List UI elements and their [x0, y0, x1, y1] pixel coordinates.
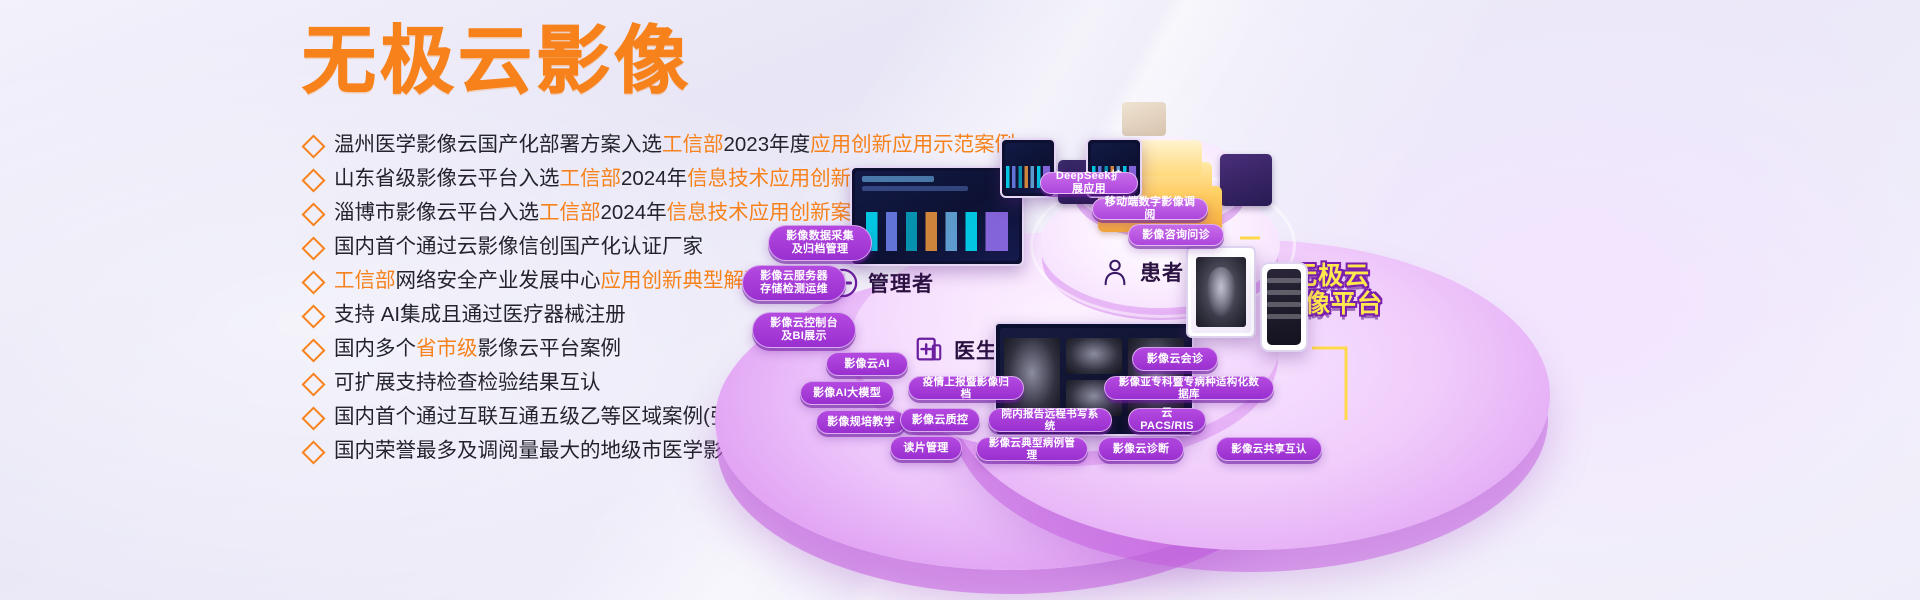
- text-segment: 工信部: [539, 201, 601, 224]
- text-segment: 支持 AI集成且通过医疗器械注册: [334, 303, 626, 326]
- text-segment: 山东省级影像云平台入选: [334, 167, 560, 190]
- diamond-bullet-icon: [301, 236, 325, 260]
- image-cell: [1066, 338, 1122, 374]
- text-segment: 省市级: [416, 337, 478, 360]
- text-segment: 影像云平台案例: [478, 337, 622, 360]
- medical-record-icon: [914, 335, 944, 365]
- platform-diagram: 无极云 影像平台 管理者 患者 医生: [700, 120, 1920, 600]
- pill-remote-report-writing[interactable]: 院内报告远程书写系统: [988, 408, 1112, 432]
- screen-subheader-bar: [862, 186, 967, 191]
- text-segment: 淄博市影像云平台入选: [334, 201, 539, 224]
- pill-image-consult-inquiry[interactable]: 影像咨询问诊: [1128, 224, 1224, 246]
- diamond-bullet-icon: [301, 202, 325, 226]
- server-chip-top: [1122, 102, 1166, 136]
- role-label: 医生: [954, 335, 998, 365]
- text-segment: 国内多个: [334, 337, 416, 360]
- diamond-bullet-icon: [301, 440, 325, 464]
- text-segment: 工信部: [334, 269, 396, 292]
- server-chip-right: [1220, 154, 1272, 206]
- xray-panel-screen: [1186, 246, 1256, 338]
- pill-epidemic-report-archive[interactable]: 疫情上报暨影像归档: [908, 376, 1024, 400]
- pill-image-cloud-qc[interactable]: 影像云质控: [900, 408, 980, 432]
- text-segment: 2024年: [601, 201, 667, 224]
- pill-image-training-teaching[interactable]: 影像规培教学: [816, 410, 906, 434]
- page-title: 无极云影像: [302, 24, 692, 98]
- diamond-bullet-icon: [301, 168, 325, 192]
- role-label: 患者: [1140, 257, 1184, 287]
- diamond-bullet-icon: [301, 406, 325, 430]
- text-segment: 国内首个通过云影像信创国产化认证厂家: [334, 235, 703, 258]
- diamond-bullet-icon: [301, 270, 325, 294]
- screen-header-bar: [862, 176, 933, 183]
- text-segment: 温州医学影像云国产化部署方案入选: [334, 133, 662, 156]
- diamond-bullet-icon: [301, 304, 325, 328]
- pill-image-cloud-diagnosis[interactable]: 影像云诊断: [1098, 437, 1184, 461]
- pill-typical-case-management[interactable]: 影像云典型病例管理: [976, 437, 1088, 461]
- mobile-phone-screen: [1260, 262, 1308, 352]
- pill-image-cloud-consultation[interactable]: 影像云会诊: [1132, 347, 1218, 371]
- pill-deepseek-extension[interactable]: DeepSeek扩展应用: [1040, 172, 1138, 194]
- text-segment: 工信部: [560, 167, 622, 190]
- diamond-bullet-icon: [301, 372, 325, 396]
- pill-mobile-image-access[interactable]: 移动端数字影像调阅: [1092, 198, 1208, 220]
- diamond-bullet-icon: [301, 338, 325, 362]
- screen-chart-bars: [866, 212, 1009, 250]
- pill-image-cloud-ai[interactable]: 影像云AI: [826, 352, 908, 376]
- role-label: 管理者: [868, 268, 934, 298]
- pill-subspecialty-database[interactable]: 影像亚专科暨专病种适构化数据库: [1104, 376, 1274, 400]
- phone-line: [1267, 302, 1300, 307]
- pill-cloud-pacs-ris[interactable]: 云PACS/RIS: [1128, 408, 1206, 432]
- xray-image: [1196, 257, 1246, 327]
- pill-reading-management[interactable]: 读片管理: [890, 436, 962, 460]
- pill-image-cloud-console[interactable]: 影像云控制台及BI展示: [752, 312, 856, 348]
- role-patient: 患者: [1100, 257, 1184, 287]
- pill-image-data-collection[interactable]: 影像数据采集及归档管理: [768, 225, 872, 261]
- person-icon: [1100, 257, 1130, 287]
- role-doctor: 医生: [914, 335, 998, 365]
- phone-line: [1267, 278, 1300, 283]
- pill-image-ai-large-model[interactable]: 影像AI大模型: [800, 381, 894, 405]
- banner-stage: 无极云影像 温州医学影像云国产化部署方案入选工信部2023年度应用创新应用示范案…: [0, 0, 1920, 600]
- text-segment: 可扩展支持检查检验结果互认: [334, 371, 601, 394]
- dashboard-screen-left: [850, 166, 1024, 266]
- diamond-bullet-icon: [301, 134, 325, 158]
- text-segment: 2024年: [621, 167, 687, 190]
- pill-image-cloud-server[interactable]: 影像云服务器存储检测运维: [742, 265, 846, 301]
- text-segment: 网络安全产业发展中心: [396, 269, 601, 292]
- phone-line: [1267, 290, 1300, 295]
- phone-line: [1267, 314, 1300, 319]
- pill-image-cloud-sharing[interactable]: 影像云共享互认: [1216, 437, 1322, 461]
